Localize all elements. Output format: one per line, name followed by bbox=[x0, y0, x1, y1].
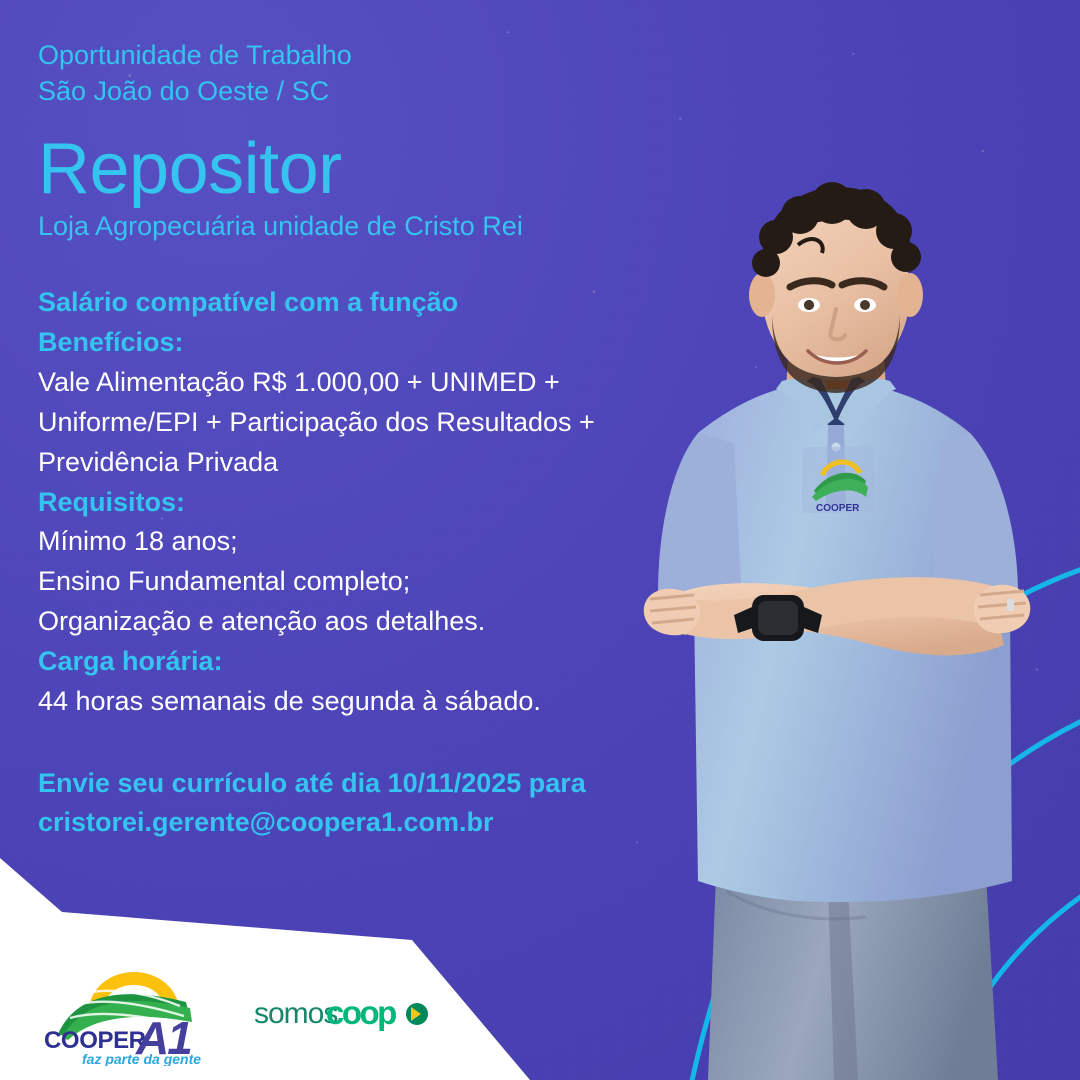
svg-text:COOPER: COOPER bbox=[816, 503, 860, 514]
requirement-line: Organização e atenção aos detalhes. bbox=[38, 602, 738, 642]
somoscoop-logo: somos coop bbox=[254, 991, 444, 1037]
cooper-a1-logo: COOPER A1 faz parte da gente bbox=[40, 962, 230, 1066]
cooper-tagline: faz parte da gente bbox=[82, 1051, 201, 1066]
benefits-label: Benefícios: bbox=[38, 323, 738, 363]
footer-logos: COOPER A1 faz parte da gente somos coop bbox=[40, 962, 444, 1066]
requirement-line: Ensino Fundamental completo; bbox=[38, 562, 738, 602]
requirement-line: Mínimo 18 anos; bbox=[38, 522, 738, 562]
benefits-line: Vale Alimentação R$ 1.000,00 + UNIMED + bbox=[38, 363, 738, 403]
benefits-line: Previdência Privada bbox=[38, 443, 738, 483]
salary-label: Salário compatível com a função bbox=[38, 283, 738, 323]
working-hours-line: 44 horas semanais de segunda à sábado. bbox=[38, 682, 738, 722]
kicker-line-1: Oportunidade de Trabalho bbox=[38, 38, 738, 74]
working-hours-label: Carga horária: bbox=[38, 642, 738, 682]
benefits-line: Uniforme/EPI + Participação dos Resultad… bbox=[38, 403, 738, 443]
cooper-wordmark: COOPER bbox=[44, 1027, 146, 1054]
job-posting-poster: COOPER bbox=[0, 0, 1080, 1080]
job-subtitle: Loja Agropecuária unidade de Cristo Rei bbox=[38, 210, 738, 242]
cta-deadline-line: Envie seu currículo até dia 10/11/2025 p… bbox=[38, 764, 738, 802]
page-title: Repositor bbox=[38, 134, 738, 205]
somos-wordmark: somos bbox=[254, 997, 337, 1030]
cta-email[interactable]: cristorei.gerente@coopera1.com.br bbox=[38, 803, 738, 841]
poster-text-content: Oportunidade de Trabalho São João do Oes… bbox=[38, 38, 738, 841]
coop-wordmark: coop bbox=[326, 994, 396, 1031]
call-to-action: Envie seu currículo até dia 10/11/2025 p… bbox=[38, 764, 738, 841]
job-details: Salário compatível com a função Benefíci… bbox=[38, 283, 738, 722]
kicker-line-2: São João do Oeste / SC bbox=[38, 74, 738, 110]
requirements-label: Requisitos: bbox=[38, 483, 738, 523]
